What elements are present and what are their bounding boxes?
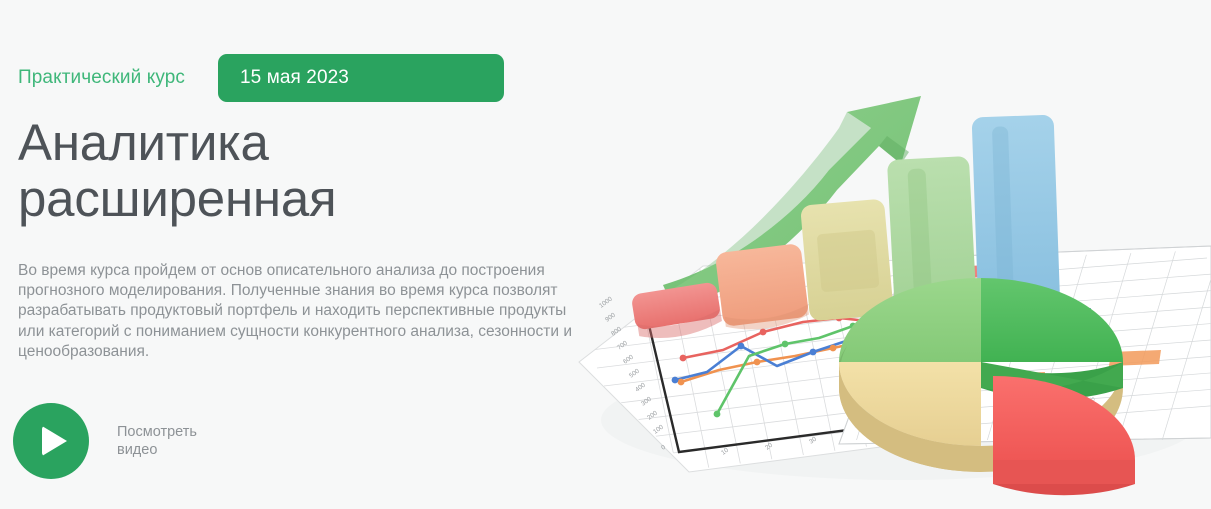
play-icon[interactable] (13, 403, 89, 479)
svg-text:900: 900 (604, 311, 617, 323)
bar-3 (800, 199, 894, 322)
course-hero-banner: 1000 900 800 700 600 500 400 300 200 100… (0, 0, 1211, 509)
course-description: Во время курса пройдем от основ описател… (18, 261, 578, 362)
watch-video-button[interactable]: Посмотреть видео (13, 403, 197, 479)
course-type-label: Практический курс (18, 67, 185, 89)
course-date-badge[interactable]: 15 мая 2023 (218, 54, 504, 102)
bar-2 (715, 243, 810, 333)
page-title: Аналитика расширенная (18, 115, 336, 227)
3d-analytics-illustration: 1000 900 800 700 600 500 400 300 200 100… (571, 0, 1211, 509)
eyebrow-row: Практический курс 15 мая 2023 (18, 54, 504, 102)
watch-video-label: Посмотреть видео (117, 423, 197, 460)
play-triangle-icon (42, 426, 67, 456)
hero-content: Практический курс 15 мая 2023 Аналитика … (18, 0, 598, 509)
svg-text:1000: 1000 (598, 295, 614, 309)
